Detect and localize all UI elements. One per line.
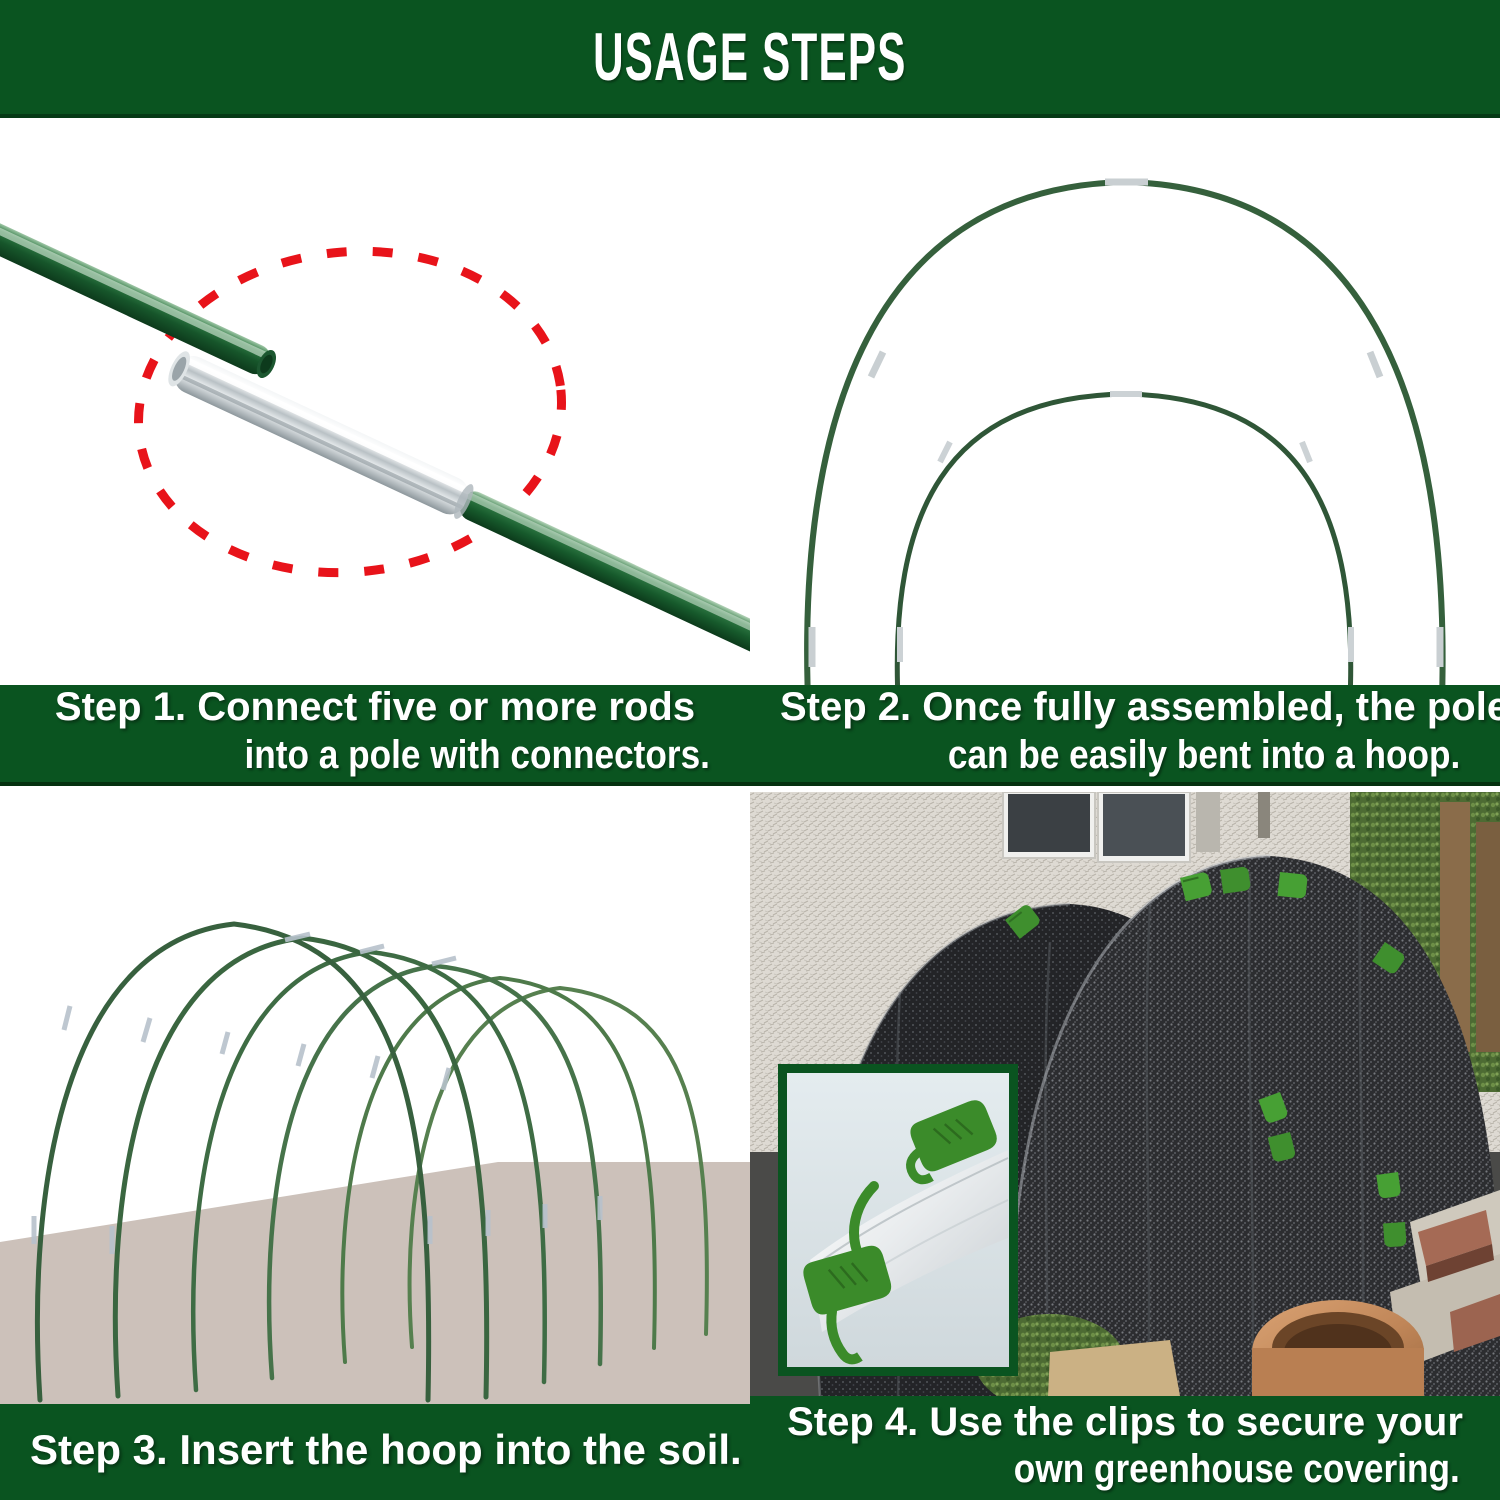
step-2-illustration [750,122,1500,685]
step-1-caption-line-1: Step 1. Connect five or more rods [55,685,695,729]
step-3-illustration [0,792,750,1404]
step-4-caption-line-1: Step 4. Use the clips to secure your [787,1400,1463,1444]
step-4-caption: Step 4. Use the clips to secure your own… [750,1396,1500,1500]
page-title: USAGE STEPS [593,18,907,96]
step-1-caption-line-2: into a pole with connectors. [245,732,710,779]
step-1-caption-line-2-row: into a pole with connectors. [30,732,720,779]
step-1-illustration [0,122,750,685]
wall-fixture [1196,792,1220,852]
silver-connector-joint-inner [900,394,1351,662]
rods-connector-diagram [0,122,750,685]
small-bent-hoop [897,394,1350,685]
step-2-caption-line-2-row: can be easily bent into a hoop. [780,732,1470,779]
bent-hoops-diagram [750,122,1500,685]
hoops-in-soil-diagram [0,792,750,1404]
green-clip-closeup-inset [778,1064,1018,1376]
greenhouse-photo [750,792,1500,1396]
step-1-caption-line-1-row: Step 1. Connect five or more rods [30,684,720,731]
step-2-caption-line-1: Step 2. Once fully assembled, the pole [780,685,1500,729]
step-4-caption-line-2-row: own greenhouse covering. [780,1446,1470,1493]
step-2-caption-line-2: can be easily bent into a hoop. [948,732,1460,779]
soil-ground-plane [0,1162,750,1404]
step-1-caption: Step 1. Connect five or more rods into a… [0,685,750,786]
header-bar: USAGE STEPS [0,0,1500,118]
green-rod-with-silver-connector-sleeve [164,348,750,685]
step-2-caption: Step 2. Once fully assembled, the pole c… [750,685,1500,786]
step-3-caption: Step 3. Insert the hoop into the soil. [0,1404,750,1500]
green-rod-open-end [0,122,280,381]
step-2-caption-line-1-row: Step 2. Once fully assembled, the pole [780,684,1470,731]
step-3-caption-line-1: Step 3. Insert the hoop into the soil. [30,1426,742,1473]
step-4-caption-line-1-row: Step 4. Use the clips to secure your [780,1399,1470,1446]
infographic-page: USAGE STEPS [0,0,1500,1500]
step-4-photo [750,792,1500,1396]
step-4-caption-line-2: own greenhouse covering. [1014,1446,1460,1493]
step-3-caption-line-1-row: Step 3. Insert the hoop into the soil. [30,1425,720,1475]
